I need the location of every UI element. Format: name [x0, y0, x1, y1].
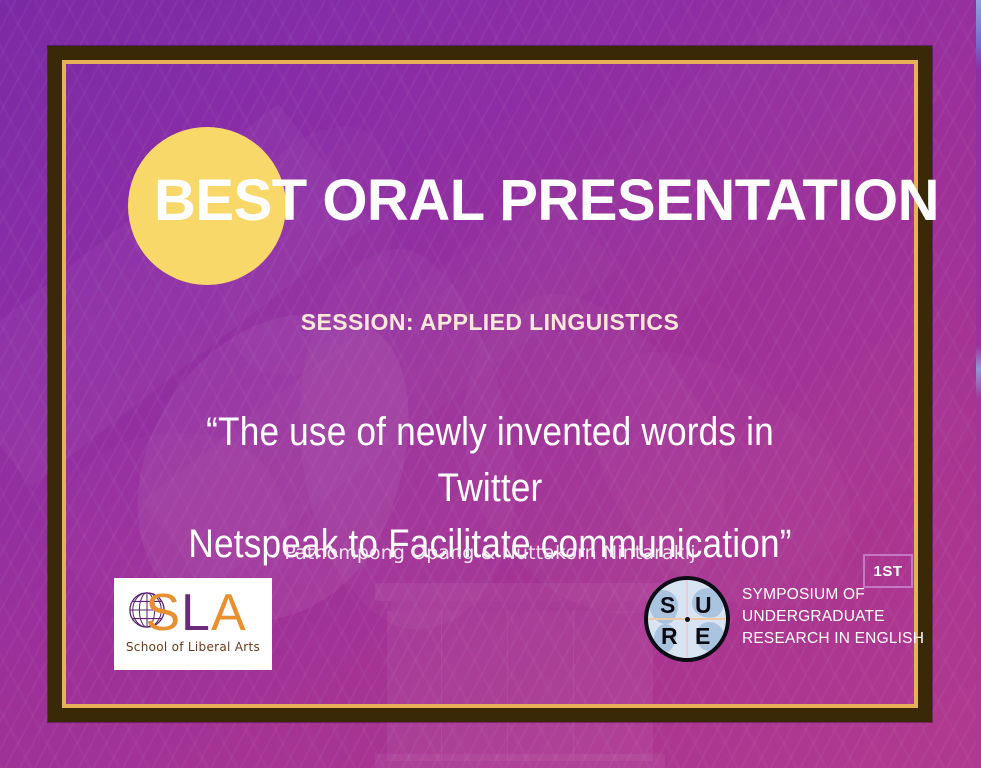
talk-title-line-1: “The use of newly invented words in Twit… — [170, 404, 811, 516]
headline-row: BEST ORAL PRESENTATION — [66, 116, 914, 286]
sure-wordmark: SYMPOSIUM OF UNDERGRADUATE RESEARCH IN E… — [742, 584, 972, 650]
sla-letter-l: L — [181, 584, 211, 642]
ordinal-badge: 1ST — [863, 554, 913, 588]
certificate-frame-inner-line: BEST ORAL PRESENTATION SESSION: APPLIED … — [62, 60, 918, 708]
sla-letters: SLA — [120, 584, 272, 642]
sla-subtitle: School of Liberal Arts — [114, 640, 272, 654]
headline-rest-text: ORAL PRESENTATION — [322, 168, 939, 233]
award-slide: BEST ORAL PRESENTATION SESSION: APPLIED … — [0, 0, 981, 768]
logo-row: SLA School of Liberal Arts S — [66, 576, 914, 686]
authors: Pathompong Opang & Nuttakorn Nintarakij — [66, 542, 914, 564]
page-title: BEST ORAL PRESENTATION — [154, 164, 954, 238]
sla-letter-s: S — [145, 584, 181, 642]
session-label: SESSION: APPLIED LINGUISTICS — [66, 309, 914, 336]
certificate-content: BEST ORAL PRESENTATION SESSION: APPLIED … — [66, 64, 914, 704]
headline-best-word: BEST — [154, 168, 307, 233]
sure-wordmark-line-1: SYMPOSIUM OF — [742, 584, 972, 606]
sure-letter-r: R — [661, 625, 678, 648]
sure-letter-e: E — [695, 625, 710, 648]
sure-letter-s: S — [660, 594, 675, 617]
sure-logo-icon: S U R E — [644, 576, 730, 662]
sure-wordmark-line-3: RESEARCH IN ENGLISH — [742, 628, 972, 650]
sure-letter-u: U — [695, 594, 712, 617]
certificate-frame: BEST ORAL PRESENTATION SESSION: APPLIED … — [48, 46, 932, 722]
sure-wordmark-line-2: UNDERGRADUATE — [742, 606, 972, 628]
sla-logo: SLA School of Liberal Arts — [114, 578, 272, 670]
headline-rest — [307, 168, 323, 233]
right-edge-sliver — [976, 0, 981, 768]
sla-letter-a: A — [211, 584, 247, 642]
